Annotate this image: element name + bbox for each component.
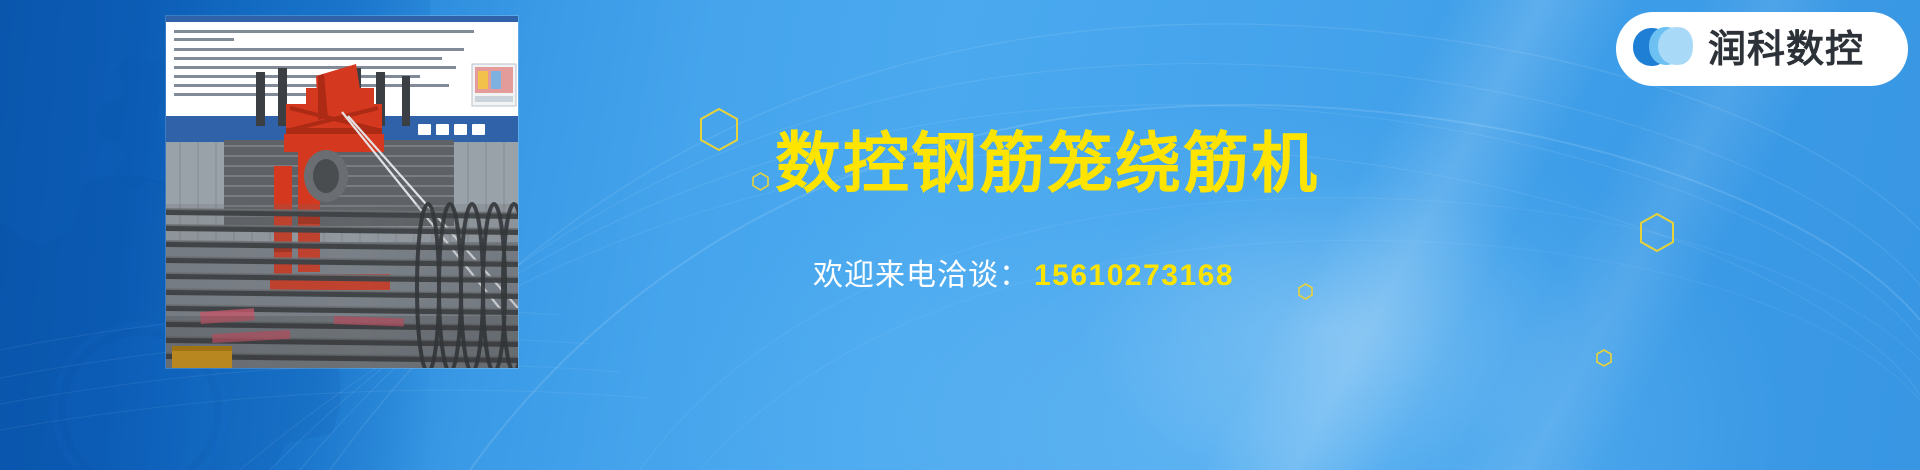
product-photo: [166, 16, 518, 368]
hexagon-small-left-icon: [752, 172, 769, 191]
hexagon-large-right-icon: [1640, 213, 1674, 252]
hexagon-small-right-icon: [1596, 349, 1612, 367]
contact-label: 欢迎来电洽谈：: [813, 259, 1030, 292]
contact-line: 欢迎来电洽谈：15610273168: [813, 261, 1234, 291]
promo-banner: 数控钢筋笼绕筋机 欢迎来电洽谈：15610273168 润科数控: [0, 0, 1920, 470]
product-photo-image: [166, 16, 518, 368]
page-title: 数控钢筋笼绕筋机: [775, 130, 1319, 196]
contact-phone[interactable]: 15610273168: [1034, 259, 1234, 292]
hexagon-large-left-icon: [700, 108, 738, 151]
three-petal-cloud-mark-icon: [1632, 24, 1694, 74]
hexagon-small-mid-icon: [1298, 283, 1313, 300]
logo-text: 润科数控: [1708, 30, 1864, 68]
company-logo[interactable]: 润科数控: [1616, 12, 1908, 86]
